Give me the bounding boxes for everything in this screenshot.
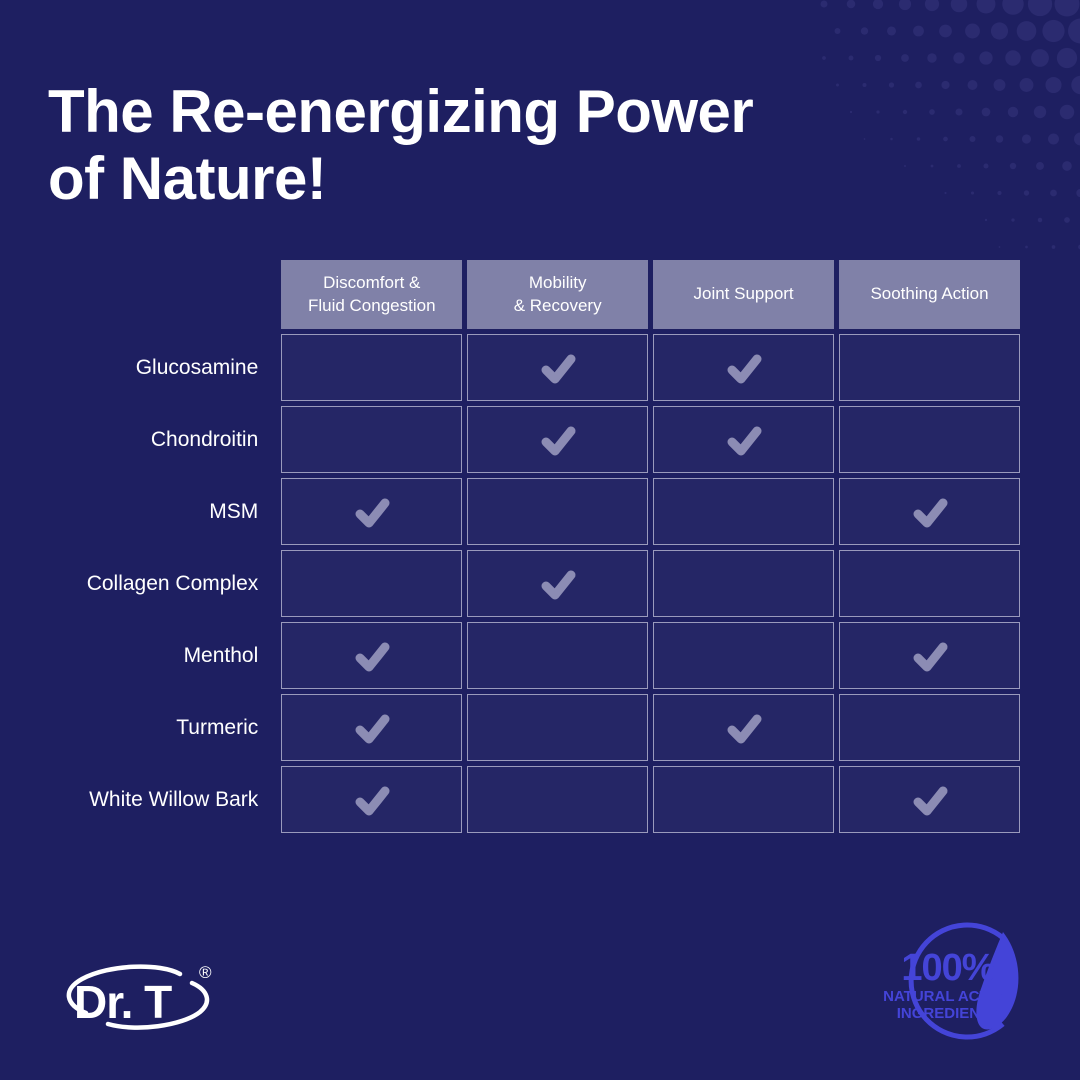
decorative-dot [1060,105,1074,119]
checkmark-icon [535,345,581,391]
decorative-dot [953,52,964,63]
decorative-dot [977,0,996,13]
matrix-row-label-collagen-complex: Collagen Complex [25,550,276,617]
matrix-cell-empty[interactable] [467,694,648,761]
checkmark-icon [349,705,395,751]
matrix-row: White Willow Bark [25,766,1020,833]
decorative-dot [1048,134,1059,145]
decorative-dot [847,0,856,8]
decorative-dot [957,164,961,168]
decorative-dot [931,165,934,168]
ingredient-benefit-matrix: Discomfort & Fluid CongestionMobility & … [20,255,1030,838]
decorative-dot [901,54,909,62]
decorative-dot [1010,163,1016,169]
matrix-cell-checked[interactable] [653,406,834,473]
decorative-dot [1028,0,1052,16]
decorative-dot [1045,77,1061,93]
matrix-cell-checked[interactable] [281,478,462,545]
decorative-dot [1034,106,1046,118]
matrix-cell-empty[interactable] [467,478,648,545]
decorative-dot [1062,161,1072,171]
matrix-row-label-white-willow-bark: White Willow Bark [25,766,276,833]
matrix-cell-empty[interactable] [281,406,462,473]
matrix-cell-empty[interactable] [839,406,1020,473]
decorative-dot [925,0,939,11]
decorative-dot [1020,78,1034,92]
decorative-dot [821,1,828,8]
matrix-row-label-glucosamine: Glucosamine [25,334,276,401]
checkmark-icon [907,777,953,823]
decorative-dot [999,246,1001,248]
decorative-dot [944,192,946,194]
checkmark-icon [535,417,581,463]
badge-line-1: NATURAL ACTIVE [883,988,1013,1005]
matrix-cell-empty[interactable] [839,550,1020,617]
matrix-cell-checked[interactable] [281,622,462,689]
decorative-dot [875,55,881,61]
decorative-dot [1022,134,1031,143]
decorative-dot [1036,162,1044,170]
matrix-row: Chondroitin [25,406,1020,473]
decorative-dot [927,53,937,63]
decorative-dot [1057,48,1077,68]
matrix-column-header-soothing-action[interactable]: Soothing Action [839,260,1020,329]
decorative-dot [991,22,1008,39]
decorative-dot [996,135,1004,143]
matrix-cell-empty[interactable] [839,334,1020,401]
decorative-dot [985,219,987,221]
matrix-cell-checked[interactable] [467,334,648,401]
decorative-dot [1076,189,1080,197]
logo-trademark-symbol: ® [199,963,212,982]
matrix-column-header-mobility-recovery[interactable]: Mobility & Recovery [467,260,648,329]
decorative-dot [951,0,968,12]
matrix-row-label-turmeric: Turmeric [25,694,276,761]
matrix-cell-checked[interactable] [467,406,648,473]
logo-wordmark: Dr. T [74,976,172,1028]
decorative-dot [982,108,991,117]
matrix-row-label-chondroitin: Chondroitin [25,406,276,473]
natural-ingredients-badge: 100% NATURAL ACTIVE INGREDIENTS [872,908,1042,1058]
badge-line-2: INGREDIENTS [897,1005,1000,1022]
decorative-dot [1038,218,1042,222]
decorative-dot [1071,76,1080,95]
decorative-dot [1031,49,1049,67]
checkmark-icon [349,489,395,535]
matrix-row-label-msm: MSM [25,478,276,545]
decorative-dot [979,51,992,64]
checkmark-icon [907,489,953,535]
decorative-dot [968,80,978,90]
matrix-cell-checked[interactable] [653,694,834,761]
badge-percent: 100% [901,947,994,989]
matrix-column-header-discomfort-fluid-congestion[interactable]: Discomfort & Fluid Congestion [281,260,462,329]
matrix-cell-checked[interactable] [839,478,1020,545]
matrix-cell-empty[interactable] [281,550,462,617]
decorative-dot [899,0,911,10]
matrix-row: Glucosamine [25,334,1020,401]
decorative-dot [955,108,962,115]
matrix-cell-checked[interactable] [281,766,462,833]
decorative-dot [1025,246,1028,249]
checkmark-icon [535,561,581,607]
matrix-cell-empty[interactable] [653,766,834,833]
decorative-dot [1052,245,1056,249]
decorative-dot [1074,133,1080,146]
matrix-head: Discomfort & Fluid CongestionMobility & … [25,260,1020,329]
matrix-cell-checked[interactable] [839,766,1020,833]
matrix-row: Menthol [25,622,1020,689]
page-title: The Re-energizing Power of Nature! [48,78,928,212]
checkmark-icon [721,345,767,391]
decorative-dot [1002,0,1024,15]
decorative-dot [941,81,949,89]
decorative-dot [849,56,854,61]
matrix-header-row: Discomfort & Fluid CongestionMobility & … [25,260,1020,329]
decorative-dot [983,163,988,168]
decorative-dot [929,109,935,115]
checkmark-icon [907,633,953,679]
decorative-dot [939,25,952,38]
matrix-corner-cell [25,260,276,329]
checkmark-icon [349,777,395,823]
matrix-cell-checked[interactable] [653,334,834,401]
matrix-row: Collagen Complex [25,550,1020,617]
decorative-dot [887,26,896,35]
matrix-cell-empty[interactable] [653,622,834,689]
decorative-dot [1055,0,1080,17]
matrix-column-header-joint-support[interactable]: Joint Support [653,260,834,329]
decorative-dot [835,28,841,34]
decorative-dot [822,56,826,60]
decorative-dot [997,191,1001,195]
matrix-row: Turmeric [25,694,1020,761]
decorative-dot [994,79,1006,91]
brand-logo-dr-t: Dr. T ® [52,952,232,1038]
decorative-dot [1042,20,1064,42]
matrix-body: GlucosamineChondroitinMSMCollagen Comple… [25,334,1020,833]
matrix-row-label-menthol: Menthol [25,622,276,689]
decorative-dot [971,191,974,194]
matrix-cell-empty[interactable] [467,622,648,689]
matrix-cell-checked[interactable] [281,694,462,761]
decorative-dot [1064,217,1070,223]
matrix-cell-empty[interactable] [653,550,834,617]
decorative-dot [1005,50,1021,66]
decorative-dot [1011,218,1014,221]
matrix-cell-empty[interactable] [467,766,648,833]
matrix-cell-checked[interactable] [839,622,1020,689]
matrix-cell-checked[interactable] [467,550,648,617]
decorative-dot [1008,107,1018,117]
decorative-dot [873,0,883,9]
decorative-dot [1068,19,1080,44]
checkmark-icon [721,417,767,463]
decorative-dot [1017,21,1037,41]
decorative-dot [1024,190,1029,195]
matrix-row: MSM [25,478,1020,545]
checkmark-icon [721,705,767,751]
matrix-table: Discomfort & Fluid CongestionMobility & … [20,255,1025,838]
matrix-cell-empty[interactable] [839,694,1020,761]
decorative-dot [943,137,948,142]
decorative-dot [861,27,868,34]
decorative-dot [969,136,975,142]
checkmark-icon [349,633,395,679]
matrix-cell-empty[interactable] [281,334,462,401]
matrix-cell-empty[interactable] [653,478,834,545]
decorative-dot [965,24,980,39]
decorative-dot [913,26,924,37]
decorative-dot [1050,190,1057,197]
